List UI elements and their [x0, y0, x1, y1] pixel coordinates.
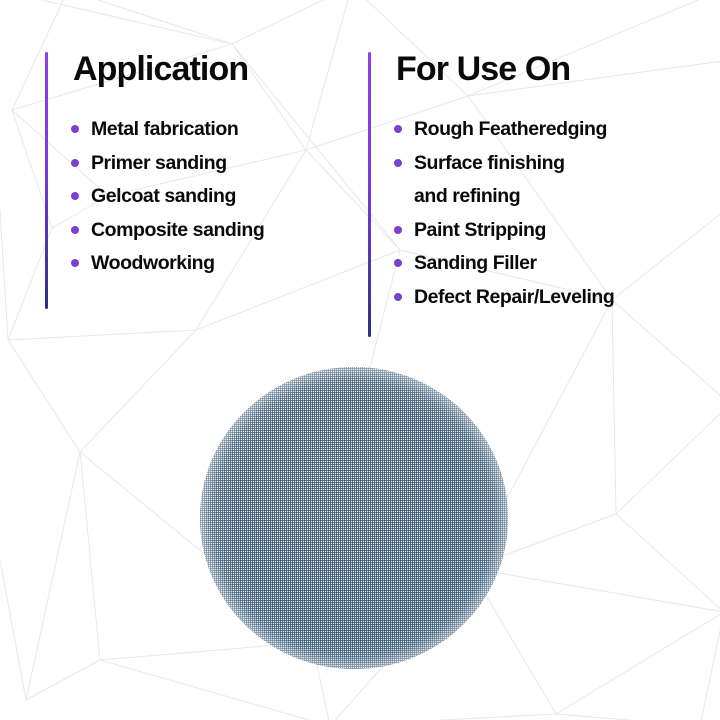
- bullet-dot-icon: [394, 293, 402, 301]
- list-item-label: Paint Stripping: [414, 219, 546, 241]
- column-accent-rule: [368, 52, 371, 337]
- list-item-label: Defect Repair/Leveling: [414, 286, 614, 308]
- bullet-dot-icon: [394, 259, 402, 267]
- list-item: Metal fabrication: [71, 113, 371, 147]
- bullet-dot-icon: [71, 192, 79, 200]
- column-title-for-use-on: For Use On: [396, 52, 720, 86]
- list-item: Rough Featheredging: [394, 113, 720, 147]
- list-item: Surface finishing: [394, 147, 720, 181]
- list-item: Composite sanding: [71, 214, 371, 248]
- application-list: Metal fabrication Primer sanding Gelcoat…: [71, 113, 371, 281]
- list-item-label: Composite sanding: [91, 219, 264, 241]
- list-item-label: Primer sanding: [91, 152, 227, 174]
- list-item: Woodworking: [71, 247, 371, 281]
- for-use-on-list: Rough Featheredging Surface finishing an…: [394, 113, 720, 314]
- bullet-dot-icon: [71, 125, 79, 133]
- column-title-application: Application: [73, 52, 371, 86]
- bullet-dot-icon: [71, 226, 79, 234]
- list-item-label: Metal fabrication: [91, 118, 238, 140]
- list-item-continuation: and refining: [394, 180, 720, 214]
- list-item: Primer sanding: [71, 147, 371, 181]
- bullet-dot-icon: [71, 159, 79, 167]
- list-item: Gelcoat sanding: [71, 180, 371, 214]
- bullet-dot-icon: [394, 226, 402, 234]
- list-item: Sanding Filler: [394, 247, 720, 281]
- product-feature-panel: Application Metal fabrication Primer san…: [0, 0, 720, 720]
- list-item-label: Woodworking: [91, 252, 215, 274]
- column-accent-rule: [45, 52, 48, 309]
- column-application: Application Metal fabrication Primer san…: [45, 52, 371, 281]
- list-item-label: Rough Featheredging: [414, 118, 607, 140]
- bullet-dot-icon: [394, 159, 402, 167]
- list-item-label: Sanding Filler: [414, 252, 537, 274]
- list-item-label: Gelcoat sanding: [91, 185, 236, 207]
- list-item-label: and refining: [414, 185, 520, 207]
- bullet-dot-icon: [394, 125, 402, 133]
- list-item: Paint Stripping: [394, 214, 720, 248]
- feature-columns: Application Metal fabrication Primer san…: [0, 0, 720, 360]
- sanding-disc-image: [200, 367, 508, 669]
- abrasive-mesh-texture: [200, 367, 508, 669]
- bullet-dot-icon: [71, 259, 79, 267]
- list-item-label: Surface finishing: [414, 152, 565, 174]
- column-for-use-on: For Use On Rough Featheredging Surface f…: [368, 52, 720, 314]
- list-item: Defect Repair/Leveling: [394, 281, 720, 315]
